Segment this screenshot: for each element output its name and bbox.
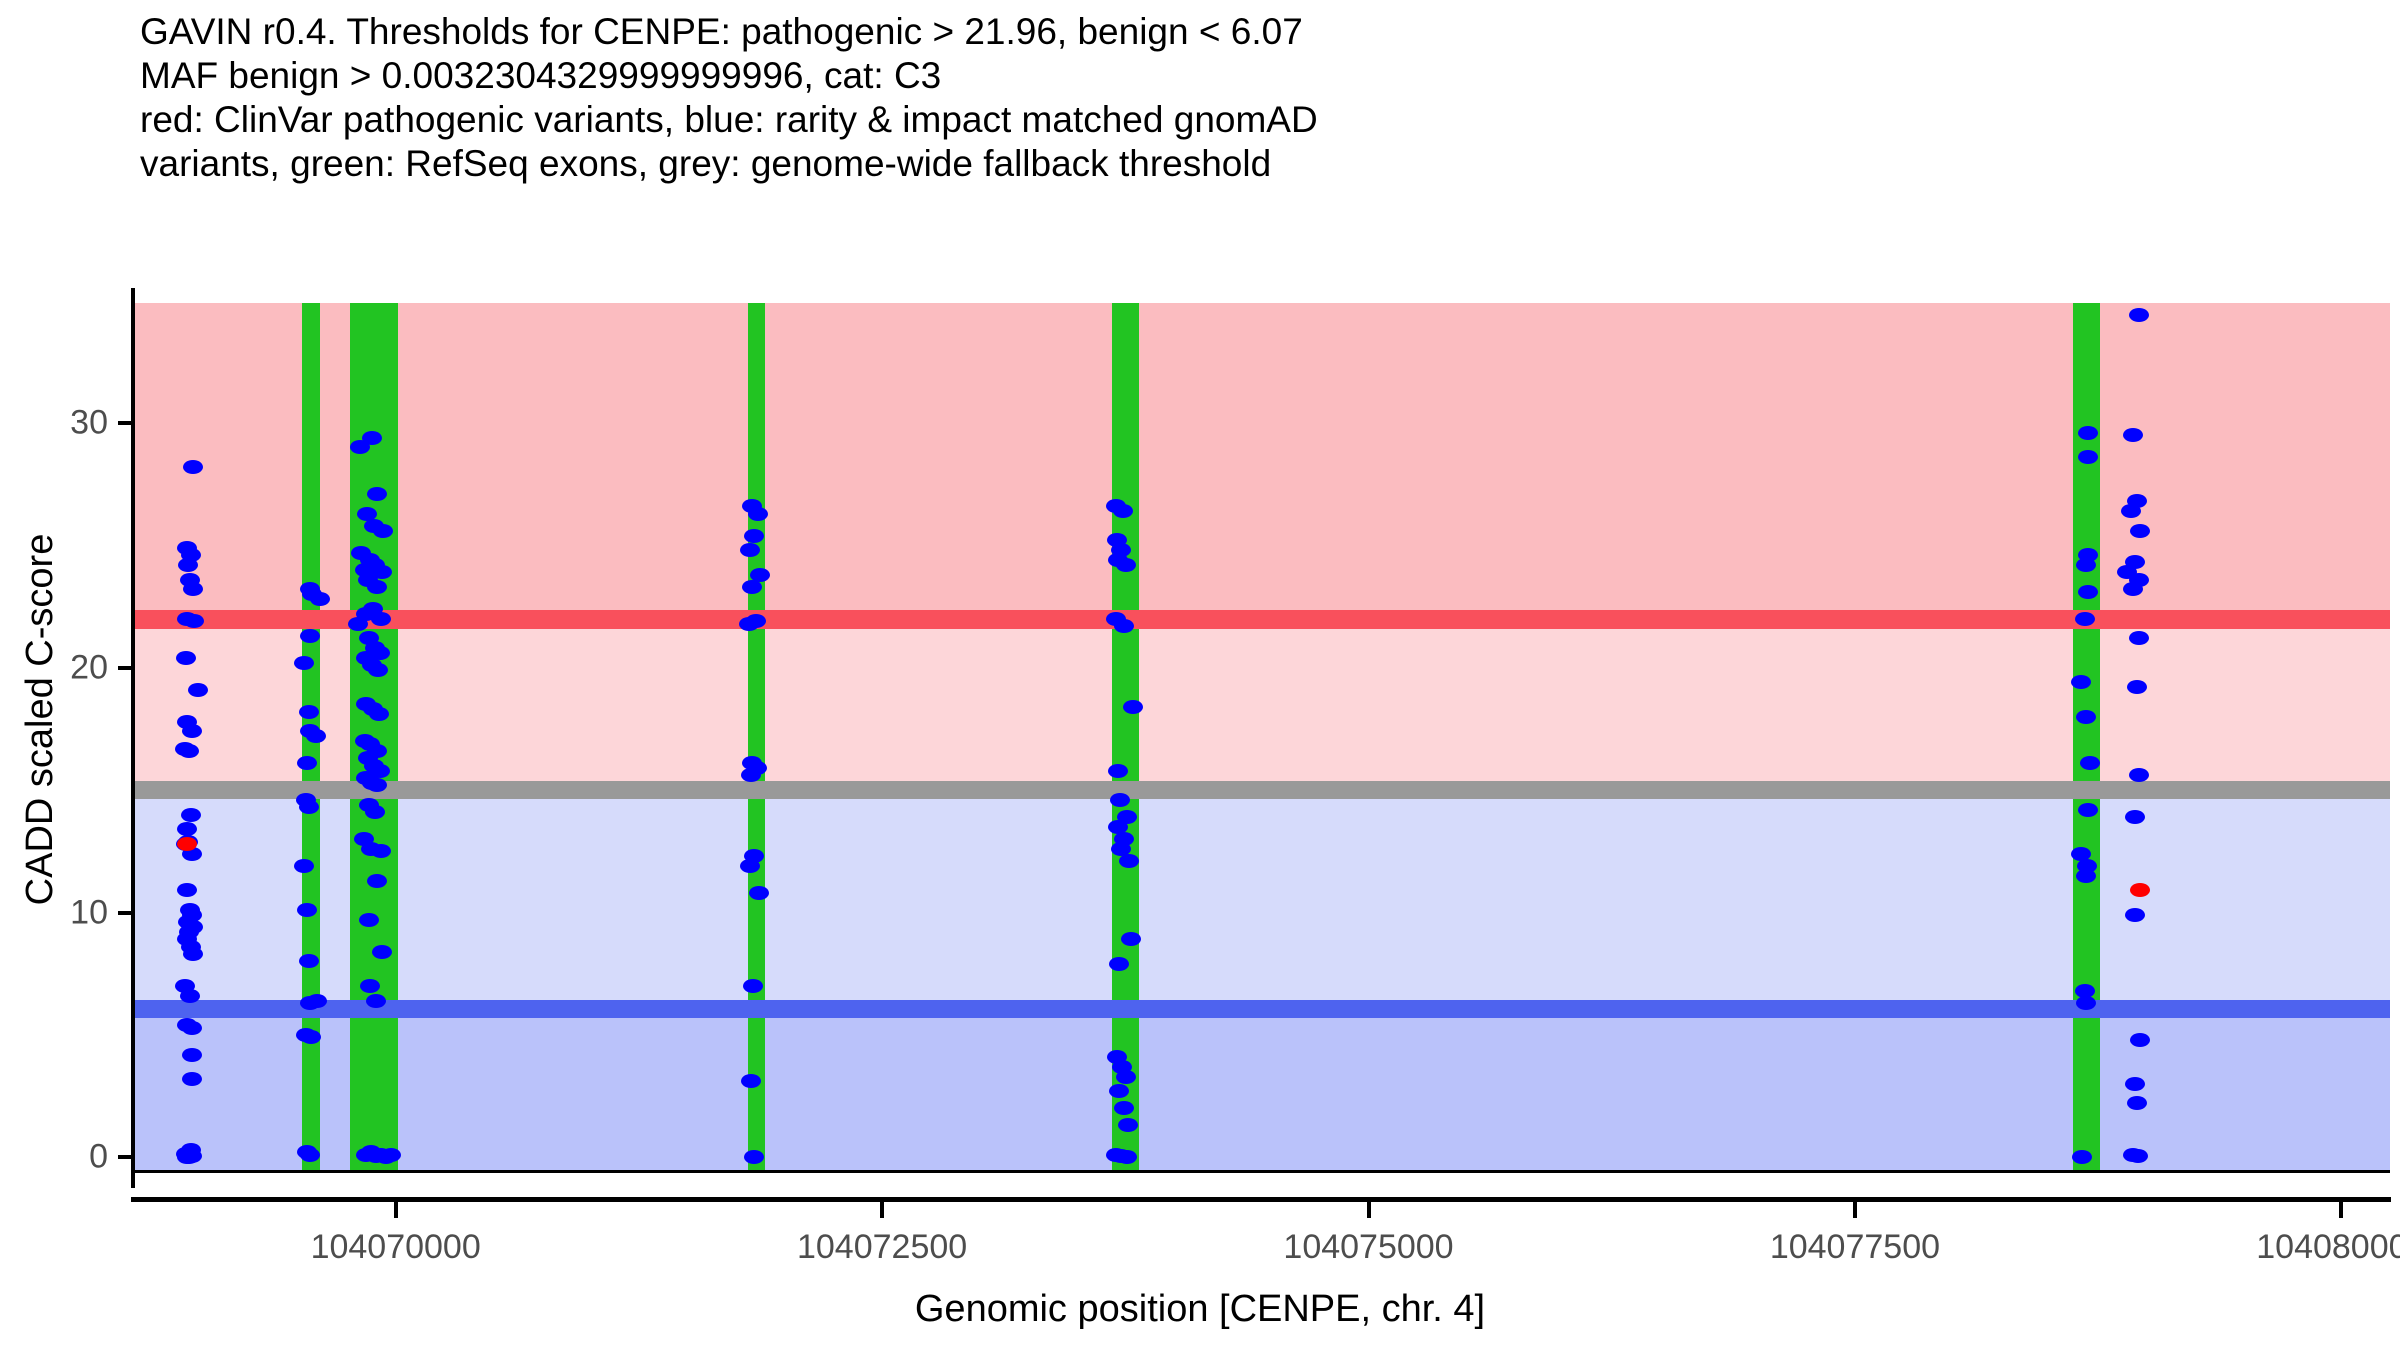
variant-point-gnomad xyxy=(739,617,759,631)
variant-point-gnomad xyxy=(367,580,387,594)
variant-point-gnomad xyxy=(2128,1149,2148,1163)
variant-point-gnomad xyxy=(176,651,196,665)
title-line-2: MAF benign > 0.0032304329999999996, cat:… xyxy=(140,54,2340,98)
variant-point-gnomad xyxy=(373,524,393,538)
variant-point-gnomad xyxy=(181,808,201,822)
variant-point-gnomad xyxy=(366,994,386,1008)
variant-point-gnomad xyxy=(740,859,760,873)
variant-point-gnomad xyxy=(348,617,368,631)
title-line-4: variants, green: RefSeq exons, grey: gen… xyxy=(140,142,2340,186)
variant-point-gnomad xyxy=(2076,710,2096,724)
variant-point-gnomad xyxy=(744,1150,764,1164)
variant-point-gnomad xyxy=(188,683,208,697)
variant-point-gnomad xyxy=(182,1048,202,1062)
y-axis-tick-mark xyxy=(118,421,133,425)
x-axis-tick-mark xyxy=(394,1202,398,1218)
pathogenic-threshold-line xyxy=(133,610,2390,629)
zero-baseline xyxy=(133,1170,2390,1173)
variant-point-gnomad xyxy=(372,945,392,959)
plot-area xyxy=(133,303,2390,1172)
variant-point-gnomad xyxy=(307,994,327,1008)
x-axis-tick-mark xyxy=(1367,1202,1371,1218)
variant-point-gnomad xyxy=(1116,1070,1136,1084)
variant-point-gnomad xyxy=(749,886,769,900)
x-axis-tick-mark xyxy=(2339,1202,2343,1218)
variant-point-gnomad xyxy=(743,979,763,993)
band-benign xyxy=(133,1009,2390,1172)
variant-point-gnomad xyxy=(300,629,320,643)
fallback-threshold-line xyxy=(133,781,2390,799)
variant-point-gnomad xyxy=(180,989,200,1003)
x-axis-tick-label: 104077500 xyxy=(1770,1228,1940,1267)
x-axis-tick-label: 104072500 xyxy=(797,1228,967,1267)
variant-point-gnomad xyxy=(2130,524,2150,538)
variant-point-gnomad xyxy=(310,592,330,606)
variant-point-gnomad xyxy=(367,487,387,501)
variant-point-gnomad xyxy=(2078,803,2098,817)
y-axis-tick-mark xyxy=(118,911,133,915)
variant-point-gnomad xyxy=(294,656,314,670)
band-pathogenic xyxy=(133,303,2390,620)
variant-point-gnomad xyxy=(742,580,762,594)
x-axis-tick-label: 104075000 xyxy=(1283,1228,1453,1267)
exon-bar xyxy=(1112,303,1139,1172)
x-axis-tick-mark xyxy=(880,1202,884,1218)
variant-point-gnomad xyxy=(300,1148,320,1162)
x-axis-title: Genomic position [CENPE, chr. 4] xyxy=(0,1288,2400,1331)
title-line-3: red: ClinVar pathogenic variants, blue: … xyxy=(140,98,2340,142)
variant-point-gnomad xyxy=(2130,1033,2150,1047)
variant-point-gnomad xyxy=(2125,908,2145,922)
variant-point-gnomad xyxy=(299,705,319,719)
chart-title: GAVIN r0.4. Thresholds for CENPE: pathog… xyxy=(140,10,2340,186)
exon-bar xyxy=(748,303,766,1172)
x-axis-line xyxy=(131,1197,2391,1202)
variant-point-gnomad xyxy=(2078,426,2098,440)
variant-point-gnomad xyxy=(381,1148,401,1162)
band-ambiguous-lower xyxy=(133,790,2390,1009)
variant-point-gnomad xyxy=(182,1021,202,1035)
variant-point-gnomad xyxy=(2072,1150,2092,1164)
variant-point-gnomad xyxy=(744,529,764,543)
chart-root: GAVIN r0.4. Thresholds for CENPE: pathog… xyxy=(0,0,2400,1350)
variant-point-gnomad xyxy=(1108,764,1128,778)
x-axis-tick-label: 104070000 xyxy=(311,1228,481,1267)
variant-point-gnomad xyxy=(367,874,387,888)
band-ambiguous-upper xyxy=(133,620,2390,790)
variant-point-gnomad xyxy=(740,543,760,557)
variant-point-gnomad xyxy=(371,612,391,626)
x-axis-tick-label: 104080000 xyxy=(2256,1228,2400,1267)
variant-point-gnomad xyxy=(748,507,768,521)
benign-threshold-line xyxy=(133,1000,2390,1018)
variant-point-gnomad xyxy=(2075,612,2095,626)
x-axis-tick-mark xyxy=(1853,1202,1857,1218)
y-axis-tick-mark xyxy=(118,1155,133,1159)
y-axis-title: CADD scaled C-score xyxy=(19,285,62,1154)
title-line-1: GAVIN r0.4. Thresholds for CENPE: pathog… xyxy=(140,10,2340,54)
variant-point-gnomad xyxy=(177,1150,197,1164)
variant-point-gnomad xyxy=(1123,700,1143,714)
variant-point-gnomad xyxy=(2125,1077,2145,1091)
y-axis-tick-mark xyxy=(118,666,133,670)
